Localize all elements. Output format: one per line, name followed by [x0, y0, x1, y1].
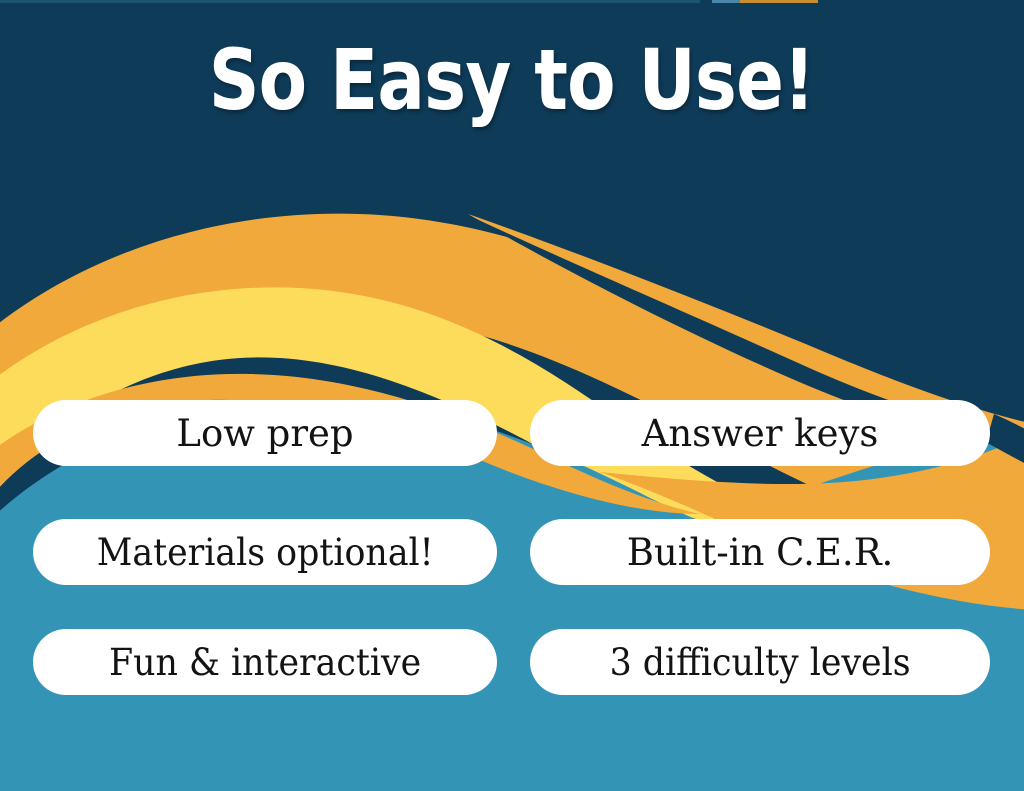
feature-pill-fun-interactive[interactable]: Fun & interactive: [33, 629, 497, 695]
feature-pill-difficulty-levels[interactable]: 3 difficulty levels: [530, 629, 990, 695]
feature-pill-label: Materials optional!: [97, 534, 434, 571]
feature-pill-label: Fun & interactive: [109, 644, 421, 681]
feature-pill-grid: Low prep Answer keys Materials optional!…: [0, 0, 1024, 791]
feature-pill-label: Built-in C.E.R.: [627, 534, 894, 571]
feature-pill-built-in-cer[interactable]: Built-in C.E.R.: [530, 519, 990, 585]
feature-pill-label: Low prep: [176, 415, 353, 452]
feature-pill-answer-keys[interactable]: Answer keys: [530, 400, 990, 466]
feature-pill-low-prep[interactable]: Low prep: [33, 400, 497, 466]
slide-canvas: So Easy to Use! Low prep Answer keys Mat…: [0, 0, 1024, 791]
feature-pill-label: 3 difficulty levels: [609, 644, 910, 681]
feature-pill-label: Answer keys: [642, 415, 879, 452]
feature-pill-materials-optional[interactable]: Materials optional!: [33, 519, 497, 585]
